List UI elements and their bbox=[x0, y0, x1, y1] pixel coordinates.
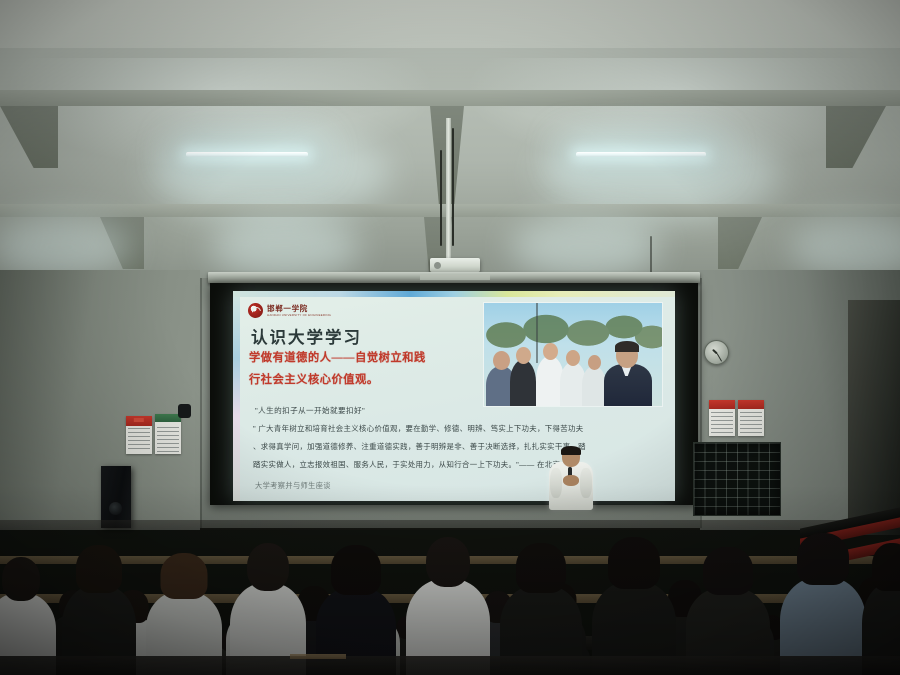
red-header-notice-left bbox=[709, 400, 735, 436]
photo-leader-hair bbox=[615, 341, 639, 352]
photo-leader bbox=[600, 344, 656, 406]
screen-housing-notch bbox=[420, 274, 490, 280]
red-notice-poster bbox=[126, 416, 152, 454]
poster-red-header-r1 bbox=[709, 400, 735, 409]
student-audience bbox=[0, 498, 900, 675]
left-wall bbox=[0, 270, 200, 530]
photo-person-head-a bbox=[493, 351, 510, 370]
poster-red-header-r2 bbox=[738, 400, 764, 409]
lecturer-hands bbox=[563, 475, 579, 486]
slide-top-accent-bar bbox=[233, 291, 675, 297]
head bbox=[426, 537, 470, 587]
slide-title: 认识大学学习 bbox=[251, 324, 362, 348]
slide-quote: "人生的扣子从一开始就要扣好" bbox=[255, 405, 365, 416]
slide-body-line-3: 踏实实做人，立志报效祖国、服务人民，于实处用力，从知行合一上下功夫。"—— 在北… bbox=[253, 461, 560, 468]
hair bbox=[872, 543, 900, 591]
lecturer-arm-left bbox=[550, 468, 562, 498]
light-glow-row2-b bbox=[210, 216, 360, 278]
university-logo: 邯郸一学院 HANDAN UNIVERSITY OF ENGINEERING bbox=[248, 303, 331, 318]
poster-flag-icon bbox=[134, 418, 144, 423]
lecturer-hair bbox=[561, 446, 581, 455]
front-desk-edge bbox=[0, 656, 900, 675]
projector-lens-icon bbox=[434, 262, 441, 269]
wall-seam-left bbox=[200, 278, 202, 528]
red-header-notice-right bbox=[738, 400, 764, 436]
photo-person-b bbox=[510, 360, 536, 406]
head bbox=[2, 557, 40, 601]
slide-left-accent-strip bbox=[233, 297, 240, 501]
hair bbox=[608, 537, 660, 589]
clock-minute-hand bbox=[716, 353, 721, 361]
audience-member bbox=[592, 541, 676, 675]
audience-member bbox=[780, 535, 866, 675]
desk-wood-trim bbox=[290, 654, 346, 659]
hair bbox=[703, 547, 753, 595]
slide-body-line-1: " 广大青年树立和培育社会主义核心价值观，要在勤学、修德、明辨、笃实上下功夫，下… bbox=[253, 425, 584, 432]
wall-clock bbox=[704, 340, 729, 365]
ceiling-projector bbox=[430, 258, 480, 272]
ceiling-beam-upper bbox=[0, 90, 900, 106]
slide-body-line-2: 、求得真学问，加强道德修养、注重道德实践，善于明辨是非、善于决断选择，扎扎实实干… bbox=[253, 443, 586, 450]
poster-text-lines-r1 bbox=[711, 412, 733, 434]
university-name-cn: 邯郸一学院 bbox=[267, 305, 331, 313]
poster-text-lines-r2 bbox=[740, 412, 762, 434]
slide-citation: 大学考察并与师生座谈 bbox=[255, 481, 331, 491]
hair bbox=[516, 543, 566, 593]
projection-screen: 邯郸一学院 HANDAN UNIVERSITY OF ENGINEERING 认… bbox=[210, 283, 698, 505]
university-logo-text: 邯郸一学院 HANDAN UNIVERSITY OF ENGINEERING bbox=[267, 305, 331, 317]
projector-cable-2 bbox=[440, 150, 442, 246]
wall-bracket bbox=[178, 404, 191, 418]
poster-text-lines bbox=[128, 428, 150, 452]
university-emblem-icon bbox=[248, 303, 263, 318]
light-glow-row2-a bbox=[0, 216, 130, 278]
ceiling-beam-upper-left-leg bbox=[0, 106, 58, 168]
hair bbox=[797, 533, 849, 585]
hair bbox=[331, 545, 381, 595]
lecturer-arm-right bbox=[580, 468, 592, 498]
photo-person-head-c bbox=[543, 343, 558, 360]
projector-cable bbox=[452, 128, 454, 246]
poster-text-lines-2 bbox=[157, 427, 179, 452]
presentation-slide: 邯郸一学院 HANDAN UNIVERSITY OF ENGINEERING 认… bbox=[233, 291, 675, 501]
light-glow-row2-d bbox=[790, 216, 900, 278]
hair bbox=[161, 553, 208, 599]
fluorescent-tube-left-icon bbox=[186, 152, 308, 157]
slide-subtitle-line-1: 学做有道德的人——自觉树立和践 bbox=[249, 353, 499, 364]
photo-person-head-d bbox=[566, 350, 580, 366]
audience-member bbox=[406, 537, 490, 675]
screen-surface: 邯郸一学院 HANDAN UNIVERSITY OF ENGINEERING 认… bbox=[210, 283, 698, 505]
desk-row-far bbox=[0, 520, 900, 530]
projector-mount-pole bbox=[446, 118, 451, 258]
light-glow-row2-c bbox=[510, 216, 660, 278]
slide-photo bbox=[483, 302, 663, 407]
photo-person-head-b bbox=[516, 347, 531, 364]
fluorescent-tube-right-icon bbox=[576, 152, 706, 157]
university-name-en: HANDAN UNIVERSITY OF ENGINEERING bbox=[267, 314, 331, 317]
ceiling-upper-slab bbox=[0, 0, 900, 48]
head bbox=[247, 543, 289, 591]
lecture-hall-photo: 邯郸一学院 HANDAN UNIVERSITY OF ENGINEERING 认… bbox=[0, 0, 900, 675]
hair bbox=[76, 545, 122, 593]
ceiling-beam-lower-right-leg bbox=[718, 217, 762, 269]
photo-crowd bbox=[484, 344, 662, 406]
slide-subtitle-line-2: 行社会主义核心价值观。 bbox=[249, 375, 499, 386]
green-notice-poster bbox=[155, 414, 181, 454]
